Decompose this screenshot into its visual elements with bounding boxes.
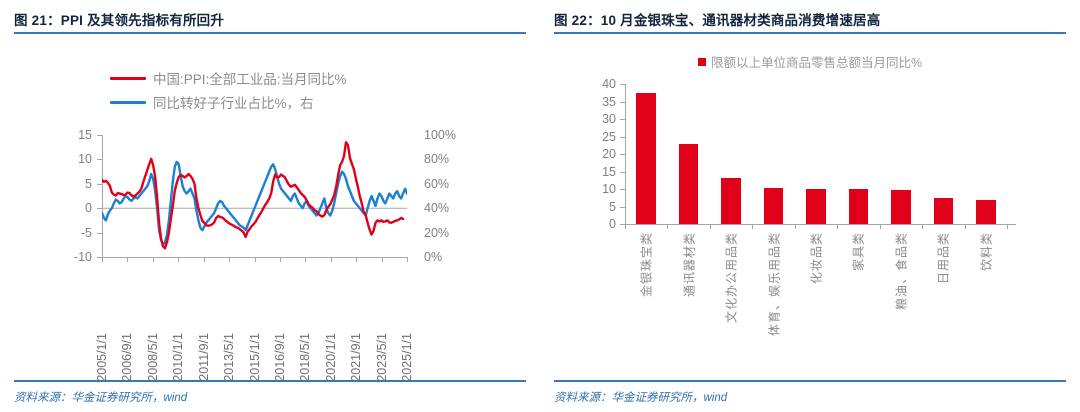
y2-axis-label: 20% [424, 226, 449, 239]
x-tick [229, 257, 230, 262]
figure-panel-21: 图 21：PPI 及其领先指标有所回升 中国:PPI:全部工业品:当月同比% 同… [0, 0, 540, 412]
x-tick [922, 224, 923, 229]
bar [849, 189, 869, 224]
legend-swatch-red-square-icon [698, 58, 706, 66]
x-tick [880, 224, 881, 229]
x-tick [305, 257, 306, 262]
bar [934, 198, 954, 224]
y-axis-label: -5 [34, 226, 92, 239]
x-axis-label: 2013/5/1 [222, 333, 236, 382]
x-tick [102, 257, 103, 262]
y-axis-label: 40 [564, 78, 616, 91]
y-axis-label: 15 [564, 165, 616, 178]
x-axis-label: 金银珠宝类 [638, 232, 655, 297]
y-tick [620, 172, 625, 173]
x-tick [965, 224, 966, 229]
x-tick [625, 224, 626, 229]
x-tick [356, 257, 357, 262]
y-axis-label: 20 [564, 148, 616, 161]
x-tick [1007, 224, 1008, 229]
x-axis-label: 2023/5/1 [375, 333, 389, 382]
x-tick [255, 257, 256, 262]
bar [636, 93, 656, 224]
x-tick [837, 224, 838, 229]
bar [721, 178, 741, 224]
y-tick [620, 137, 625, 138]
x-tick [153, 257, 154, 262]
figure-21-source: 资料来源：华金证券研究所，wind [14, 389, 187, 405]
y2-axis-label: 0% [424, 251, 442, 264]
bar [976, 200, 996, 225]
x-axis-label: 2015/1/1 [248, 333, 262, 382]
figure-21-title: 图 21：PPI 及其领先指标有所回升 [14, 9, 526, 33]
x-axis-label: 2016/9/1 [273, 333, 287, 382]
y-axis-label: 0 [564, 218, 616, 231]
y-axis-label: 5 [564, 200, 616, 213]
figures-page: 图 21：PPI 及其领先指标有所回升 中国:PPI:全部工业品:当月同比% 同… [0, 0, 1080, 412]
legend-item-share: 同比转好子行业占比%，右 [110, 90, 347, 114]
figure-22-top-rule [554, 32, 1066, 34]
figure-21-top-rule [14, 32, 526, 34]
legend-swatch-blue-line-icon [110, 101, 146, 104]
y-axis-label: 5 [34, 178, 92, 191]
bar [764, 188, 784, 224]
y-tick [97, 184, 102, 185]
legend-label-ppi: 中国:PPI:全部工业品:当月同比% [153, 68, 347, 88]
figure-21-lines [102, 135, 407, 257]
x-axis-label: 2010/1/1 [171, 333, 185, 382]
y-axis-label: -10 [34, 251, 92, 264]
figure-21-bottom-rule [14, 380, 526, 382]
x-tick [407, 257, 408, 262]
figure-22-source: 资料来源：华金证券研究所，wind [554, 389, 727, 405]
y-axis-label: 0 [34, 202, 92, 215]
bar [891, 190, 911, 224]
legend-label-retail: 限额以上单位商品零售总额当月同比% [711, 56, 922, 70]
legend-label-share: 同比转好子行业占比%，右 [153, 92, 314, 112]
x-axis-label: 体育、娱乐用品类 [765, 232, 782, 336]
y2-axis-label: 100% [424, 129, 456, 142]
series-line-red [102, 142, 403, 248]
x-tick [127, 257, 128, 262]
figure-22-legend: 限额以上单位商品零售总额当月同比% [554, 52, 1066, 71]
figure-22-plot-area [625, 84, 1007, 224]
x-tick [710, 224, 711, 229]
y2-axis-label: 40% [424, 202, 449, 215]
y-axis-label: 30 [564, 113, 616, 126]
x-axis-label: 2011/9/1 [197, 333, 211, 381]
x-axis-label: 通讯器材类 [680, 232, 697, 297]
x-tick [382, 257, 383, 262]
x-tick [178, 257, 179, 262]
x-axis-label: 2005/1/1 [95, 333, 109, 382]
y-axis-label: 35 [564, 95, 616, 108]
bar [806, 189, 826, 224]
figure-panel-22: 图 22：10 月金银珠宝、通讯器材类商品消费增速居高 限额以上单位商品零售总额… [540, 0, 1080, 412]
x-axis-label: 2020/1/1 [324, 333, 338, 382]
x-tick [331, 257, 332, 262]
y-tick [620, 207, 625, 208]
bar [679, 144, 699, 224]
x-tick [280, 257, 281, 262]
x-tick [204, 257, 205, 262]
x-axis-label: 饮料类 [977, 232, 994, 271]
x-axis-label: 日用品类 [935, 232, 952, 284]
x-axis-label: 2006/9/1 [120, 333, 134, 382]
figure-21-plot-area [102, 135, 407, 257]
y-tick [97, 233, 102, 234]
y-axis-label: 15 [34, 129, 92, 142]
x-axis-label: 家具类 [850, 232, 867, 271]
legend-swatch-red-line-icon [110, 77, 146, 80]
x-tick [752, 224, 753, 229]
y-tick [620, 119, 625, 120]
x-axis-label: 文化办公用品类 [723, 232, 740, 323]
y-axis-label: 25 [564, 130, 616, 143]
x-tick [795, 224, 796, 229]
y-tick [620, 102, 625, 103]
y-axis-label: 10 [564, 183, 616, 196]
y-tick [97, 159, 102, 160]
x-axis-label: 2021/9/1 [349, 333, 363, 382]
figure-22-x-axis-line [625, 224, 1016, 225]
y-tick [620, 84, 625, 85]
y-tick [620, 189, 625, 190]
y-tick [97, 208, 102, 209]
figure-21-legend: 中国:PPI:全部工业品:当月同比% 同比转好子行业占比%，右 [110, 66, 347, 114]
y2-axis-label: 60% [424, 178, 449, 191]
y2-axis-label: 80% [424, 153, 449, 166]
legend-item-ppi: 中国:PPI:全部工业品:当月同比% [110, 66, 347, 90]
x-axis-label: 2008/5/1 [146, 333, 160, 382]
y-axis-label: 10 [34, 153, 92, 166]
x-axis-label: 化妆品类 [808, 232, 825, 284]
x-axis-label: 2018/5/1 [298, 333, 312, 382]
figure-22-title: 图 22：10 月金银珠宝、通讯器材类商品消费增速居高 [554, 9, 1066, 33]
x-axis-label: 粮油、食品类 [892, 232, 909, 310]
figure-22-bottom-rule [554, 380, 1066, 382]
x-tick [667, 224, 668, 229]
y-tick [620, 154, 625, 155]
x-axis-label: 2025/1/1 [400, 333, 414, 382]
y-tick [97, 135, 102, 136]
